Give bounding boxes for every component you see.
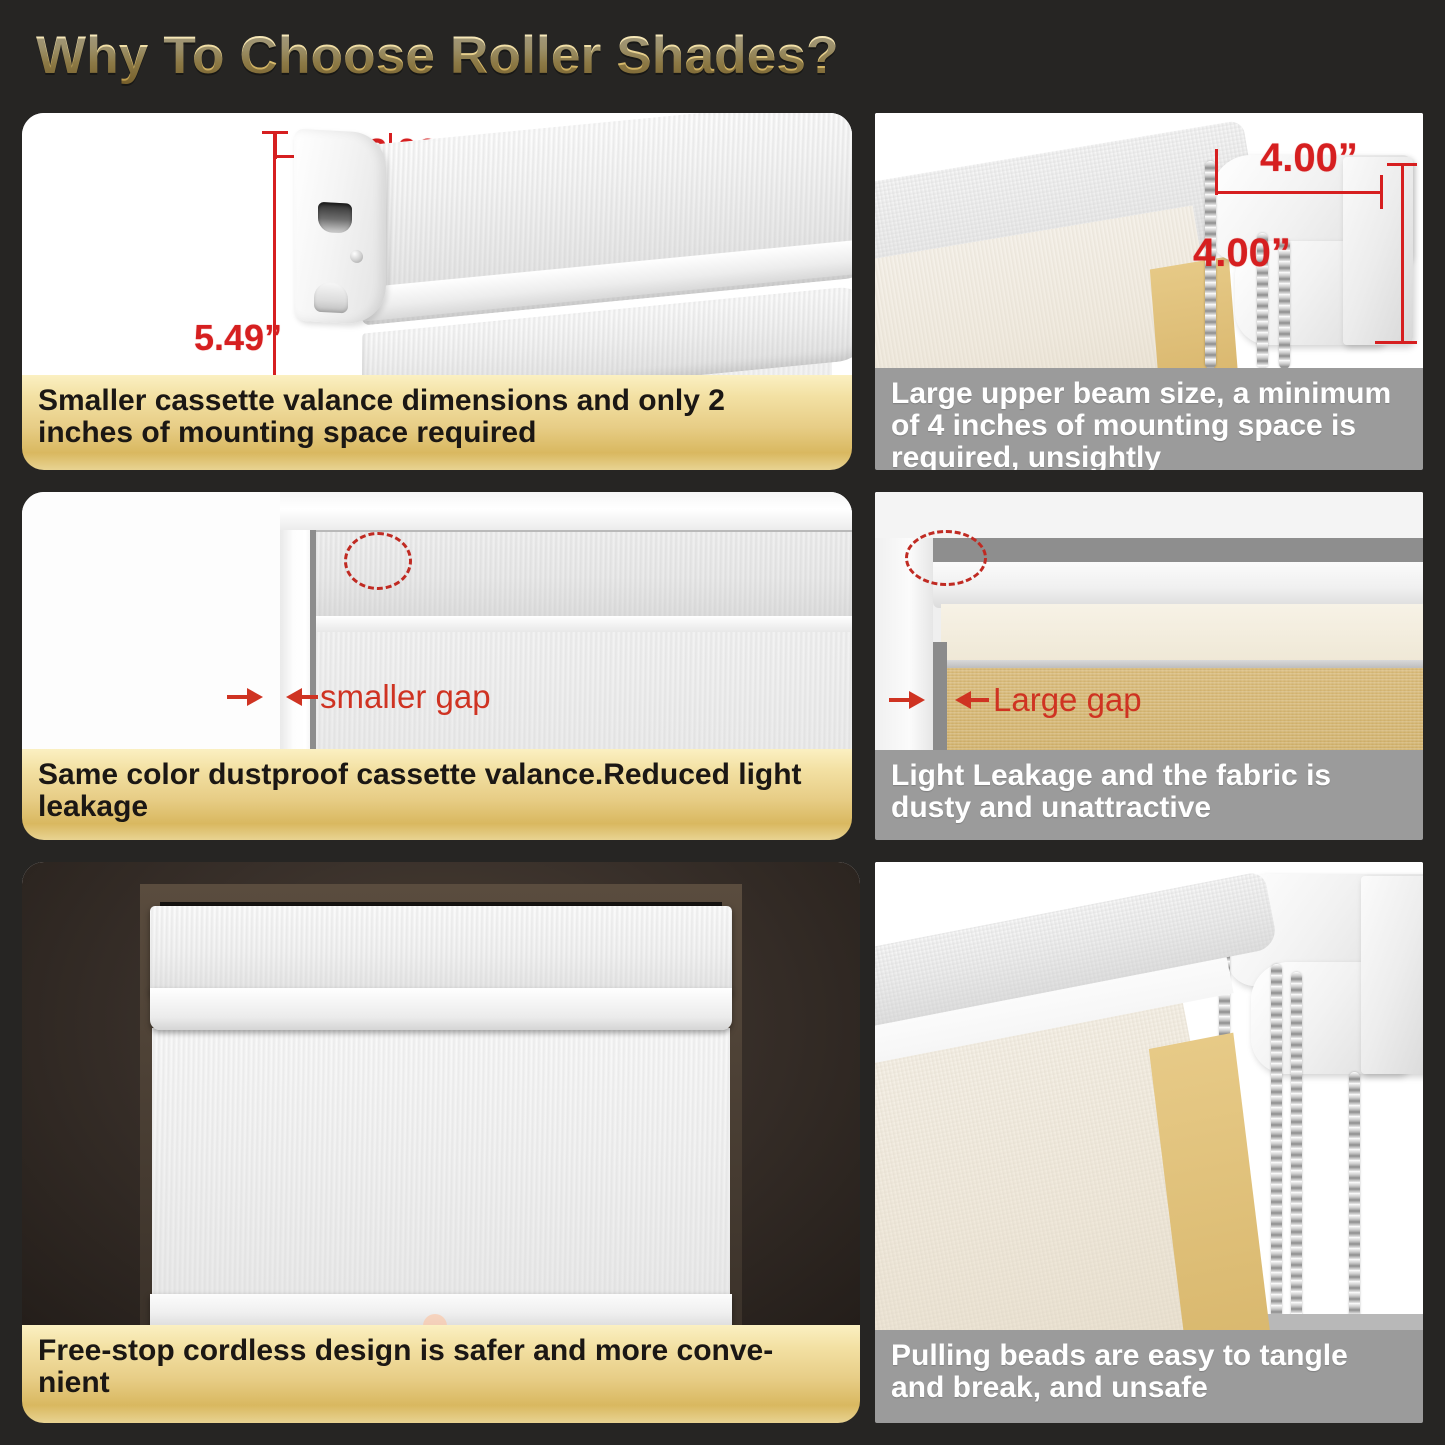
caption-band: Pulling beads are easy to tangle and bre… [875,1330,1423,1423]
height-dimension-tick-top [1387,163,1417,166]
gap-arrow-right-icon [247,688,263,706]
panel-large-upper-beam: 4.00” 4.00” Large upper beam size, a min… [875,113,1423,470]
cream-fabric-band [941,604,1423,662]
caption-band: Same color dustproof cassette valance.Re… [22,749,852,840]
caption-text: Large upper beam size, a minimum of 4 in… [891,378,1409,470]
dustproof-cassette-photo: smaller gap [22,492,852,749]
gap-callout-label: smaller gap [320,678,491,716]
shade-mid-rail [314,616,852,632]
gap-arrow-right-icon [909,691,925,709]
gap-arrow-left-icon [955,691,971,709]
bead-chain-inner[interactable] [1291,972,1302,1330]
height-dimension-label: 4.00” [1193,231,1291,276]
valance-slot [318,202,352,234]
caption-band: Free-stop cordless design is safer and m… [22,1325,860,1423]
cordless-room-photo [22,862,860,1325]
highlight-ellipse [905,530,987,586]
valance-end-cap [294,129,386,326]
caption-band: Light Leakage and the fabric is dusty an… [875,750,1423,840]
gap-arrow-stem-left [889,698,911,702]
gap-arrow-stem-right [302,695,318,699]
large-beam-photo: 4.00” 4.00” [875,113,1423,368]
gap-arrow-left-icon [286,688,302,706]
page-header: Why To Choose Roller Shades? [0,0,1445,110]
headrail [933,562,1423,608]
height-dimension-tick-bottom [1375,341,1417,344]
height-dimension-label: 5.49” [194,317,282,359]
cassette-valance-lip [150,988,732,1030]
width-dimension-tick-left [1215,149,1218,195]
caption-text: Pulling beads are easy to tangle and bre… [891,1340,1409,1404]
width-dimension-label: 4.00” [1260,136,1358,181]
cassette-valance [150,906,732,994]
panel-cordless-design: Free-stop cordless design is safer and m… [22,862,860,1423]
bracket-plate [1361,876,1423,1074]
hand-graphic [397,1310,485,1325]
page-title: Why To Choose Roller Shades? [36,25,839,86]
width-dimension-line [1215,191,1383,194]
valance-screw-icon [350,250,363,264]
gap-strip [310,530,316,749]
caption-text: Free-stop cordless design is safer and m… [38,1335,838,1399]
caption-text: Same color dustproof cassette valance.Re… [38,759,828,823]
roller-shade-fabric [152,1028,730,1318]
gap-arrow-stem-right [971,698,989,702]
hand-finger [423,1314,447,1325]
gap-strip [933,642,947,750]
gap-callout-label: Large gap [993,681,1142,719]
caption-band: Large upper beam size, a minimum of 4 in… [875,368,1423,470]
light-leakage-photo: Large gap [875,492,1423,750]
height-dimension-tick-top [262,131,288,134]
cassette-valance-photo: 2.06” 5.49” [22,113,852,375]
highlight-ellipse [344,532,412,590]
width-dimension-tick-right [1380,175,1383,209]
window-frame-side [280,492,314,749]
caption-band: Smaller cassette valance dimensions and … [22,375,852,470]
panel-cassette-valance: 2.06” 5.49” Smaller cassette valance dim… [22,113,852,470]
bottom-edge-band [941,660,1423,668]
valance-knob [314,282,348,314]
pulling-beads-photo [875,862,1423,1330]
caption-text: Light Leakage and the fabric is dusty an… [891,760,1409,824]
window-frame-top [280,492,852,530]
caption-text: Smaller cassette valance dimensions and … [38,385,828,449]
bead-chain-middle[interactable] [1271,964,1282,1330]
panel-dustproof-cassette: smaller gap Same color dustproof cassett… [22,492,852,840]
bead-chain-right[interactable] [1349,1072,1360,1330]
height-dimension-line [1401,163,1404,343]
panel-pulling-beads: Pulling beads are easy to tangle and bre… [875,862,1423,1423]
gap-arrow-stem-left [227,695,249,699]
panel-light-leakage: Large gap Light Leakage and the fabric i… [875,492,1423,840]
